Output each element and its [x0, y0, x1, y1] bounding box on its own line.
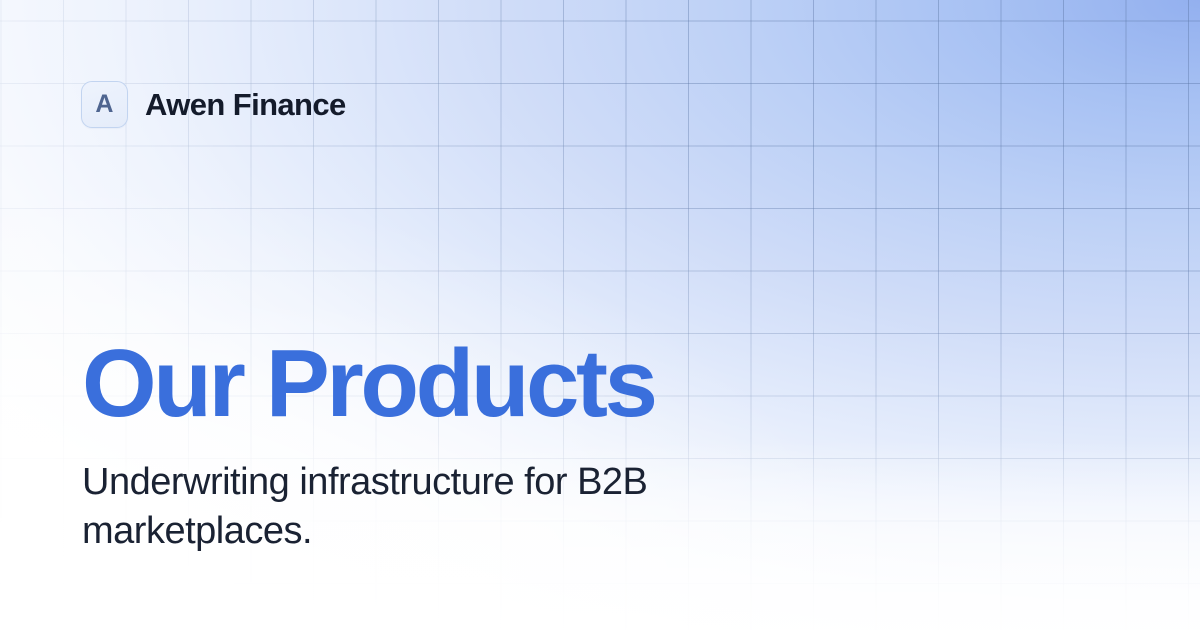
- page-subtitle: Underwriting infrastructure for B2B mark…: [82, 458, 702, 557]
- awen-logo-badge-icon: A: [81, 81, 128, 128]
- brand-name: Awen Finance: [145, 87, 346, 123]
- og-card: A Awen Finance Our Products Underwriting…: [0, 0, 1200, 630]
- brand-badge-letter: A: [95, 92, 113, 117]
- card-content: A Awen Finance Our Products Underwriting…: [0, 0, 1200, 630]
- page-title: Our Products: [82, 336, 782, 432]
- brand-lockup: A Awen Finance: [81, 81, 346, 128]
- hero-block: Our Products Underwriting infrastructure…: [82, 336, 782, 557]
